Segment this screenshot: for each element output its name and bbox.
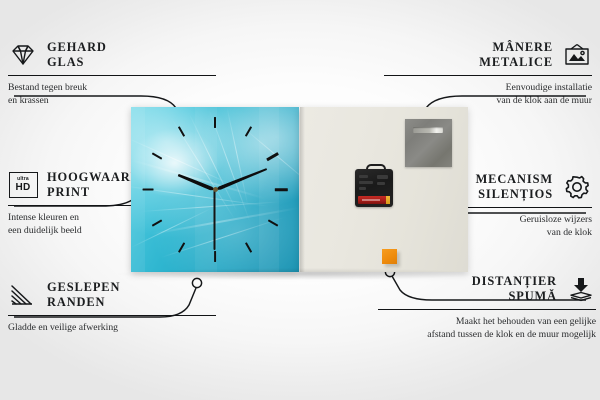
feature-title: GEHARD GLAS: [47, 40, 107, 69]
feature-description: Gladde en veilige afwerking: [8, 321, 216, 334]
feature-title: GESLEPEN RANDEN: [47, 280, 120, 309]
product-ground-shadow: [118, 268, 482, 280]
battery-positive-tip: [386, 196, 390, 204]
clock-tick: [214, 117, 216, 128]
metal-hanger-plate: [405, 119, 452, 167]
feature-header: GEHARD GLAS: [8, 38, 216, 72]
foam-spacer: [382, 249, 397, 264]
clock-center-cap: [213, 187, 218, 192]
mechanism-body: [355, 169, 393, 207]
quartz-mechanism: [355, 169, 393, 207]
back-panel-edge-shadow: [300, 107, 305, 272]
feature-title: DISTANȚIER SPUMĂ: [472, 274, 557, 303]
clock-tick: [214, 251, 216, 262]
feature-distantier-spuma: DISTANȚIER SPUMĂ Maakt het behouden van …: [378, 272, 596, 341]
wall-clock-back: [300, 107, 468, 272]
feature-gehard-glas: GEHARD GLAS Bestand tegen breuk en krass…: [8, 38, 216, 107]
feature-title: MECANISM SILENȚIOS: [476, 172, 553, 201]
wall-mount-plate-icon: [562, 41, 592, 69]
feature-description: Bestand tegen breuk en krassen: [8, 81, 216, 107]
diamond-icon: [8, 41, 38, 69]
hanger-keyhole-slot: [413, 127, 443, 133]
ultra-hd-badge-icon: ultra HD: [8, 171, 38, 199]
beveled-edge-icon: [8, 281, 38, 309]
feature-description: Maakt het behouden van een gelijke afsta…: [378, 315, 596, 341]
foam-spacer-icon: [566, 275, 596, 303]
battery: [358, 196, 390, 204]
clock-tick: [275, 188, 288, 191]
feature-divider: [384, 75, 592, 76]
battery-label-band: [362, 199, 380, 201]
feature-divider: [8, 315, 216, 316]
feature-divider: [8, 75, 216, 76]
feature-title: MÂNERE METALICE: [479, 40, 553, 69]
feature-header: GESLEPEN RANDEN: [8, 278, 216, 312]
wall-clock-front: [131, 107, 299, 272]
feature-description: Eenvoudige installatie van de klok aan d…: [384, 81, 592, 107]
feature-geslepen-randen: GESLEPEN RANDEN Gladde en veilige afwerk…: [8, 278, 216, 334]
gear-icon: [562, 173, 592, 201]
feature-divider: [378, 309, 596, 310]
feature-header: MÂNERE METALICE: [384, 38, 592, 72]
ultra-hd-badge-main-text: HD: [15, 183, 30, 193]
feature-manere-metalice: MÂNERE METALICE Eenvoudige installatie v…: [384, 38, 592, 107]
infographic-canvas: GEHARD GLAS Bestand tegen breuk en krass…: [0, 0, 600, 400]
clock-tick: [143, 188, 154, 190]
